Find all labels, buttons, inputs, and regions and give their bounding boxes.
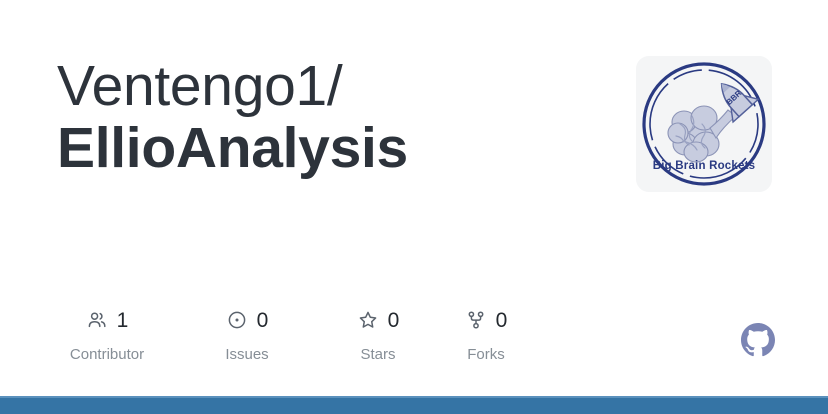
organization-logo: BBR Big Brain Rockets xyxy=(636,56,772,192)
logo-caption: Big Brain Rockets xyxy=(653,160,755,172)
issue-opened-icon xyxy=(226,309,248,331)
people-icon xyxy=(86,309,108,331)
star-icon xyxy=(357,309,379,331)
stat-issues-value: 0 xyxy=(257,310,269,331)
stat-stars-value: 0 xyxy=(388,310,400,331)
stat-issues-label: Issues xyxy=(172,347,322,362)
stat-forks-top: 0 xyxy=(411,305,561,335)
repo-forked-icon xyxy=(465,309,487,331)
stat-forks-value: 0 xyxy=(496,310,508,331)
repository-header: Ventengo1/ EllioAnalysis xyxy=(0,0,828,230)
page-title: Ventengo1/ EllioAnalysis xyxy=(57,56,617,179)
stat-contributors[interactable]: 1 Contributor xyxy=(32,305,182,362)
repository-name[interactable]: EllioAnalysis xyxy=(57,118,617,178)
stat-contributors-label: Contributor xyxy=(32,347,182,362)
stat-contributors-value: 1 xyxy=(117,310,129,331)
stat-contributors-top: 1 xyxy=(32,305,182,335)
stat-issues[interactable]: 0 Issues xyxy=(172,305,322,362)
repository-owner[interactable]: Ventengo1/ xyxy=(57,56,617,116)
repository-stats: 1 Contributor 0 Issues xyxy=(0,305,828,377)
github-mark-icon[interactable] xyxy=(741,323,775,357)
repository-overview-page: Ventengo1/ EllioAnalysis xyxy=(0,0,828,414)
footer-bar xyxy=(0,396,828,414)
stat-forks-label: Forks xyxy=(411,347,561,362)
stat-issues-top: 0 xyxy=(172,305,322,335)
stat-forks[interactable]: 0 Forks xyxy=(411,305,561,362)
